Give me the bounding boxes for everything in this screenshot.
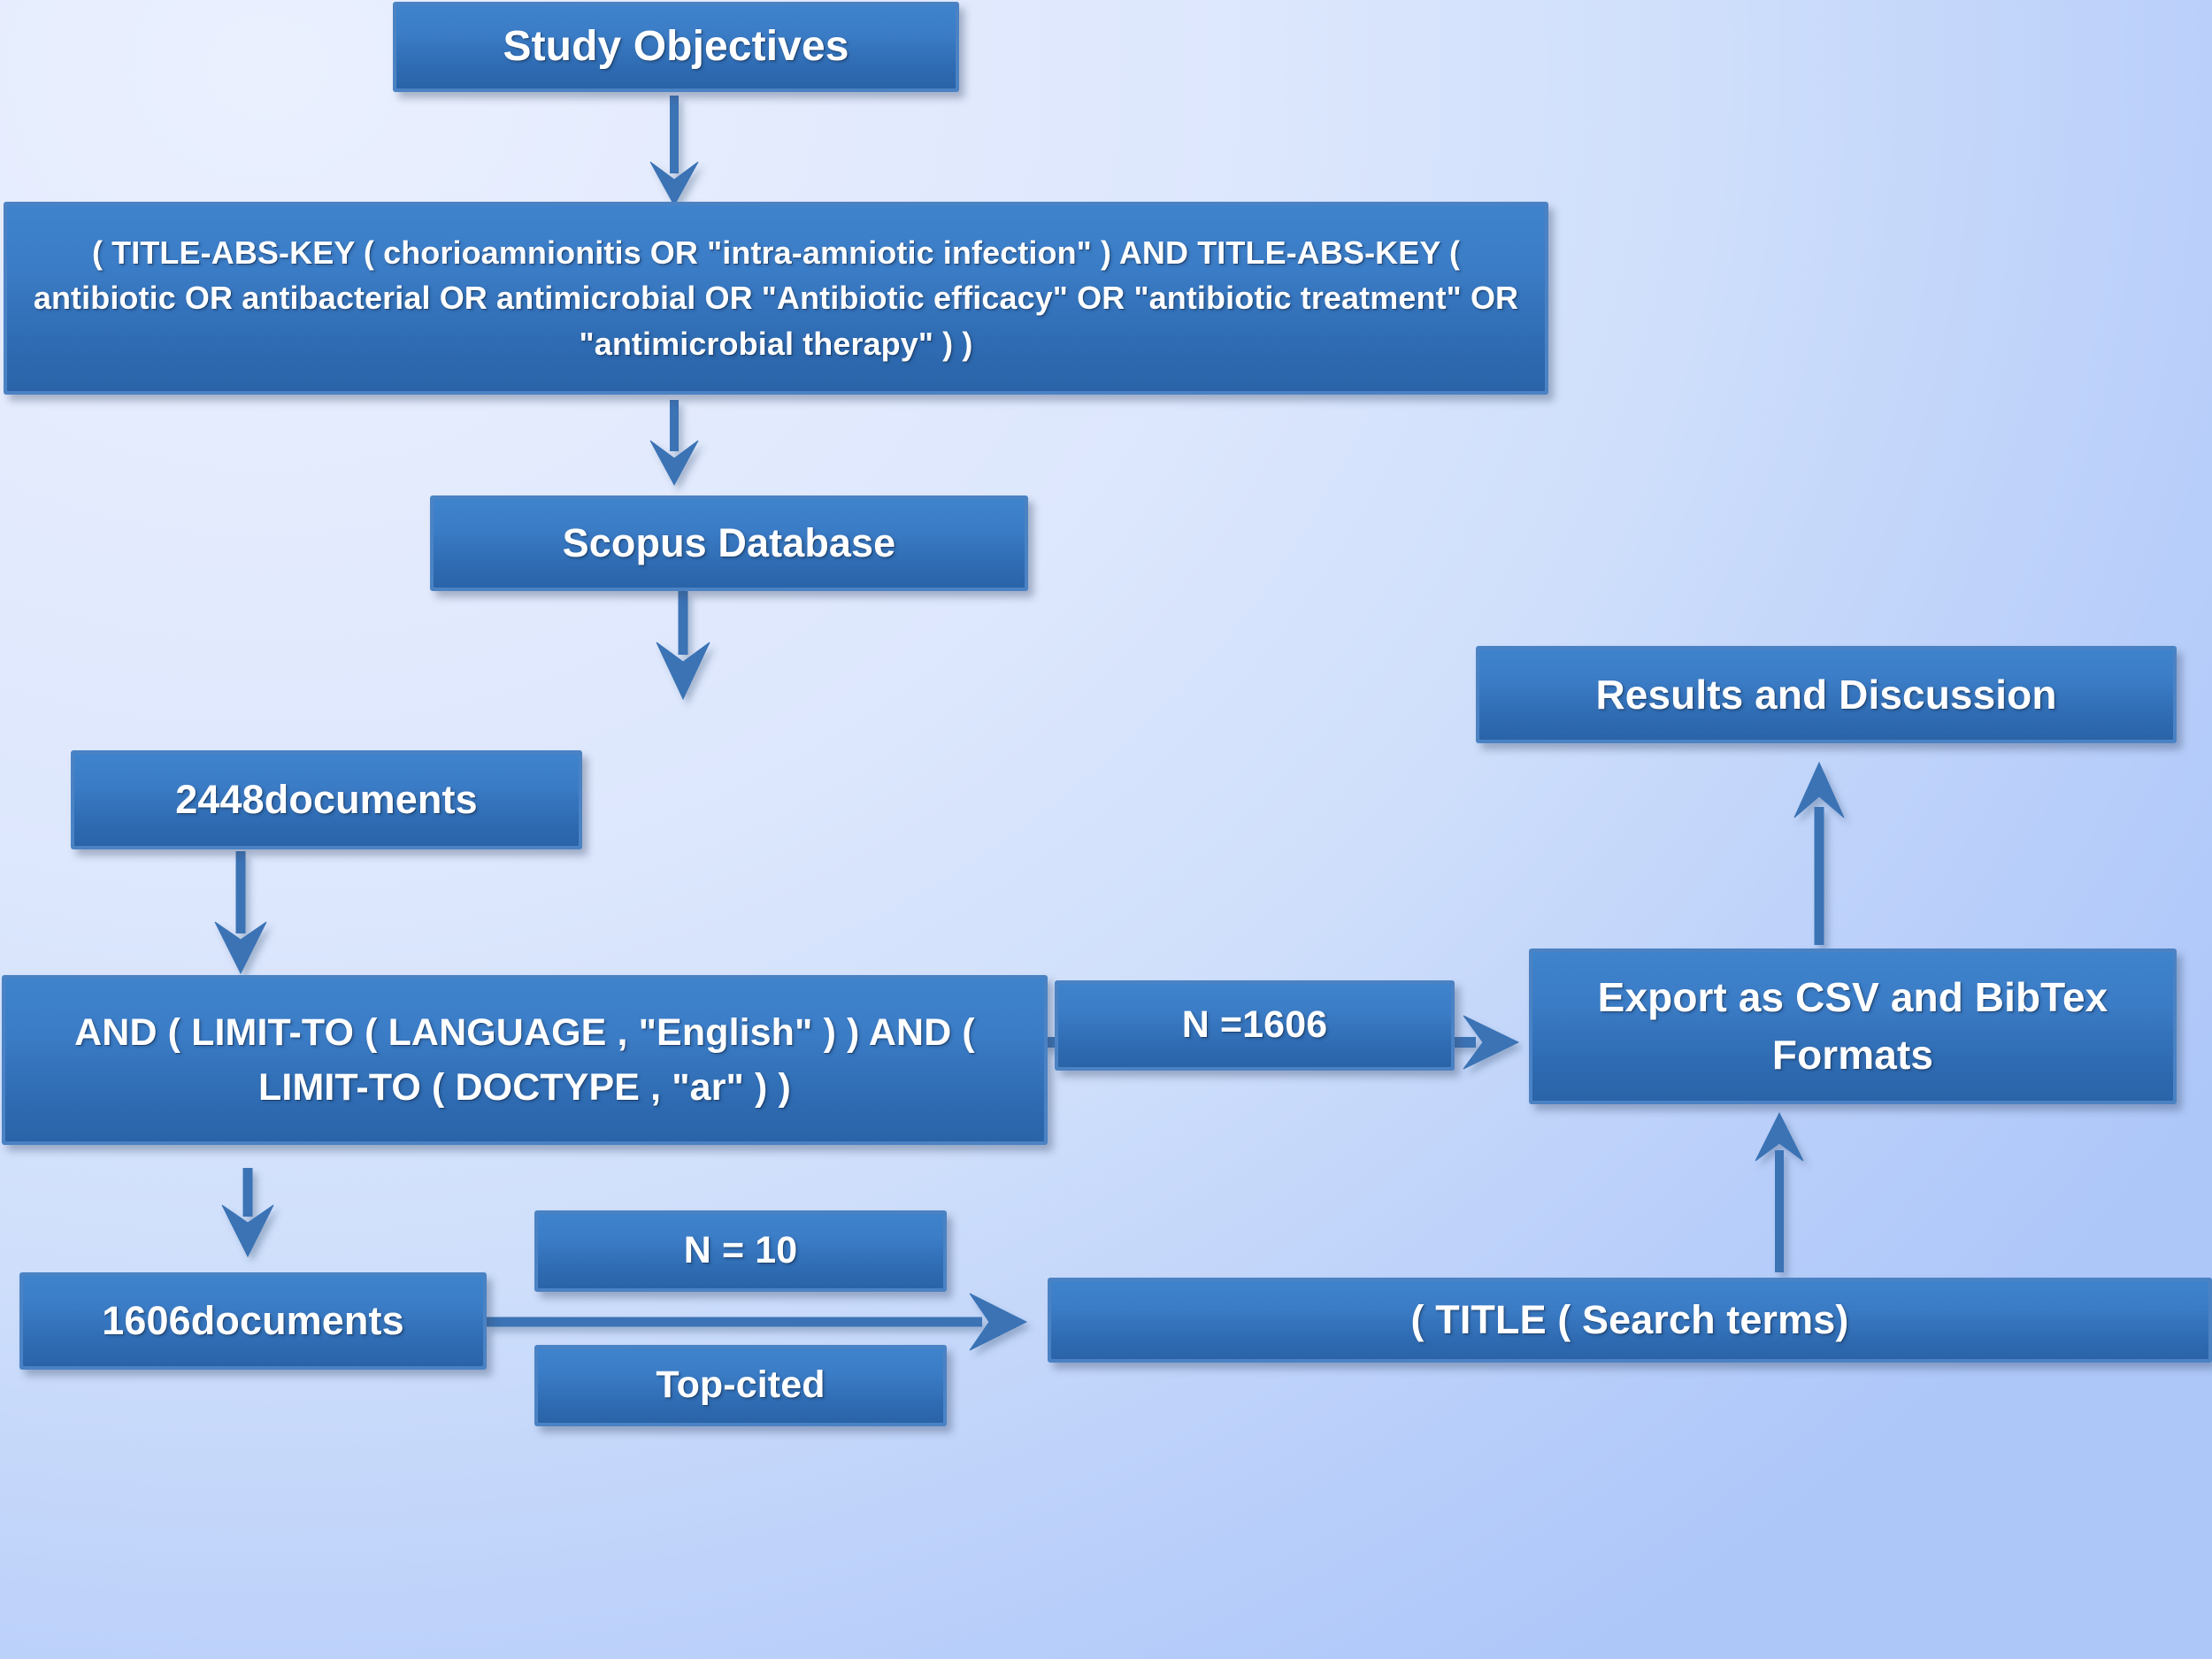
- node-title-search-terms[interactable]: ( TITLE ( Search terms): [1048, 1278, 2212, 1363]
- arrow-limitto-to-filtered: [222, 1168, 273, 1256]
- top-cited-label: Top-cited: [647, 1361, 833, 1409]
- n-10-label: N = 10: [675, 1226, 807, 1275]
- title-search-terms-label: ( TITLE ( Search terms): [1402, 1294, 1858, 1346]
- node-top-cited[interactable]: Top-cited: [534, 1345, 947, 1426]
- node-scopus-database[interactable]: Scopus Database: [430, 495, 1028, 591]
- node-documents-initial[interactable]: 2448documents: [71, 750, 582, 849]
- results-discussion-label: Results and Discussion: [1586, 669, 2065, 721]
- limit-to-query-label: AND ( LIMIT-TO ( LANGUAGE , "English" ) …: [5, 1005, 1044, 1116]
- flowchart-canvas: Study Objectives ( TITLE-ABS-KEY ( chori…: [0, 0, 2212, 1659]
- node-results-discussion[interactable]: Results and Discussion: [1476, 646, 2177, 743]
- node-n-10[interactable]: N = 10: [534, 1210, 947, 1292]
- export-formats-label: Export as CSV and BibTex Formats: [1532, 969, 2173, 1085]
- node-search-query[interactable]: ( TITLE-ABS-KEY ( chorioamnionitis OR "i…: [4, 202, 1548, 395]
- arrow-documents-to-limitto: [215, 851, 266, 973]
- documents-filtered-label: 1606documents: [93, 1295, 412, 1347]
- search-query-label: ( TITLE-ABS-KEY ( chorioamnionitis OR "i…: [7, 230, 1545, 365]
- node-documents-filtered[interactable]: 1606documents: [19, 1272, 487, 1370]
- arrow-filtered-to-title: [485, 1294, 1026, 1350]
- arrow-query-to-scopus: [650, 400, 698, 485]
- node-limit-to-query[interactable]: AND ( LIMIT-TO ( LANGUAGE , "English" ) …: [2, 975, 1048, 1145]
- arrow-objectives-to-query: [650, 96, 698, 205]
- n-1606-label: N =1606: [1173, 1001, 1336, 1049]
- arrow-export-to-results: [1794, 763, 1844, 945]
- node-n-1606[interactable]: N =1606: [1055, 980, 1455, 1071]
- arrow-n1606-to-export: [1449, 1016, 1518, 1069]
- study-objectives-label: Study Objectives: [494, 19, 857, 73]
- documents-initial-label: 2448documents: [166, 774, 486, 826]
- arrow-scopus-to-documents: [657, 591, 710, 699]
- scopus-database-label: Scopus Database: [554, 518, 905, 569]
- node-export-formats[interactable]: Export as CSV and BibTex Formats: [1529, 949, 2177, 1104]
- node-study-objectives[interactable]: Study Objectives: [393, 2, 959, 92]
- arrow-title-to-export: [1755, 1113, 1803, 1272]
